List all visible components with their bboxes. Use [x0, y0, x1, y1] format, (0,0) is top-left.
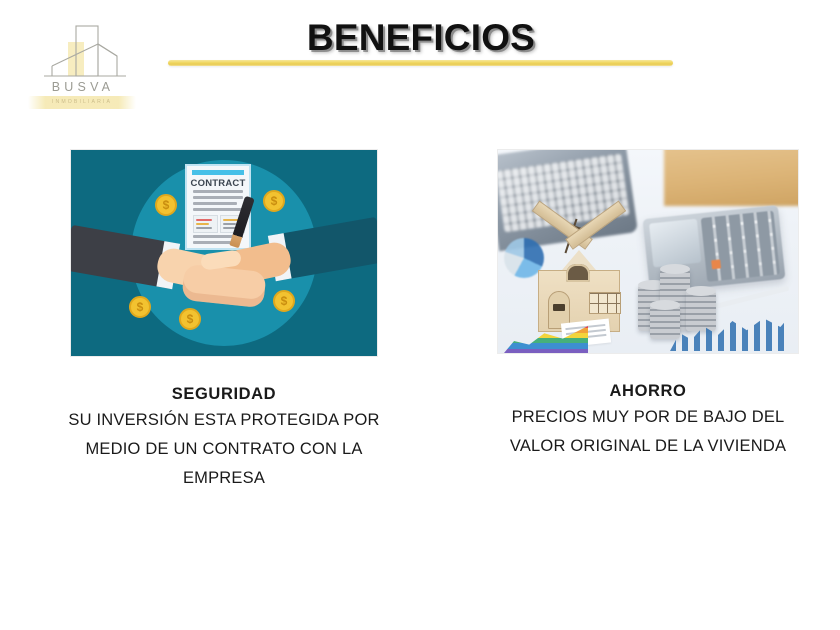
coin-icon: $	[155, 194, 177, 216]
benefit-description: PRECIOS MUY POR DE BAJO DEL VALOR ORIGIN…	[468, 403, 828, 461]
handshake-contract-illustration: CONTRACT	[71, 150, 377, 356]
benefit-caption-seguridad: SEGURIDAD SU INVERSIÓN ESTA PROTEGIDA PO…	[44, 382, 404, 493]
brand-logo[interactable]: BUSVA INMOBILIARIA	[22, 22, 140, 114]
title-underline-rule	[168, 60, 673, 66]
handshake-icon	[157, 246, 291, 312]
slide-root: BUSVA INMOBILIARIA BENEFICIOS CONTRACT	[0, 0, 840, 630]
coin-icon: $	[129, 296, 151, 318]
benefit-title: SEGURIDAD	[44, 382, 404, 406]
building-outline-logo-icon	[22, 22, 140, 84]
model-house-coins-calculator-photo	[498, 150, 798, 353]
benefit-caption-ahorro: AHORRO PRECIOS MUY POR DE BAJO DEL VALOR…	[468, 379, 828, 461]
benefit-description: SU INVERSIÓN ESTA PROTEGIDA POR MEDIO DE…	[44, 406, 404, 493]
document-title: CONTRACT	[187, 178, 249, 189]
coin-icon: $	[179, 308, 201, 330]
benefit-title: AHORRO	[468, 379, 828, 403]
coin-icon: $	[263, 190, 285, 212]
page-title: BENEFICIOS	[168, 18, 674, 58]
bar-chart-graphic	[498, 307, 798, 353]
brand-name: BUSVA	[22, 80, 140, 94]
brand-tagline-band: INMOBILIARIA	[28, 96, 136, 109]
brand-tagline: INMOBILIARIA	[28, 97, 136, 108]
benefit-column-ahorro: AHORRO PRECIOS MUY POR DE BAJO DEL VALOR…	[468, 150, 828, 461]
document-top-bar	[192, 170, 244, 175]
wood-panel	[664, 150, 798, 206]
coin-icon: $	[273, 290, 295, 312]
benefit-column-seguridad: CONTRACT	[44, 150, 404, 493]
